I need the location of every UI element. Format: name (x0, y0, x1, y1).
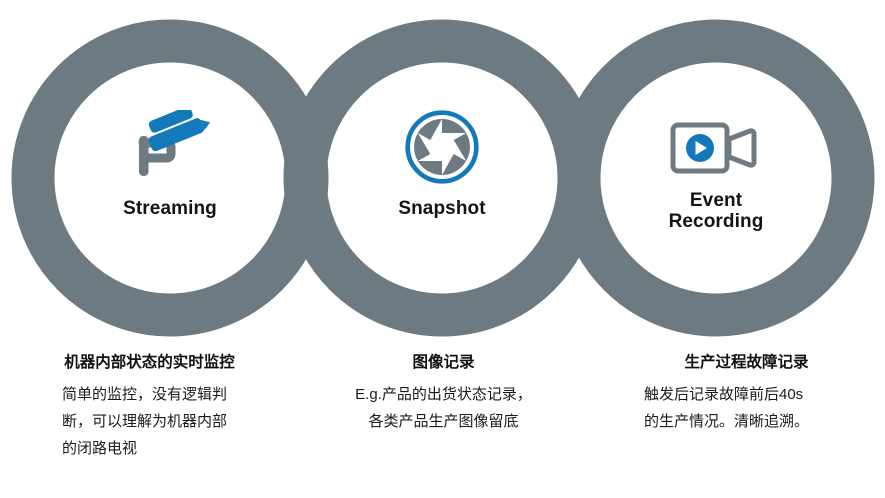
node-label-streaming: Streaming (70, 198, 270, 219)
description-line: 的生产情况。清晰追溯。 (644, 408, 849, 435)
node-label-event-recording-line2: Recording (616, 211, 816, 232)
description-line: 的闭路电视 (62, 435, 237, 462)
video-camcorder-glyph (670, 120, 762, 178)
node-snapshot: Snapshot (342, 100, 542, 219)
node-label-event-recording: Event Recording (616, 190, 816, 232)
description-heading-event-recording: 生产过程故障记录 (644, 352, 849, 374)
diagram-canvas: Streaming Snapshot (0, 0, 885, 498)
description-body-event-recording: 触发后记录故障前后40s 的生产情况。清晰追溯。 (644, 381, 849, 435)
description-heading-streaming: 机器内部状态的实时监控 (62, 352, 237, 374)
description-column-streaming: 机器内部状态的实时监控 简单的监控，没有逻辑判 断，可以理解为机器内部 的闭路电… (0, 352, 295, 462)
camera-aperture-glyph (403, 108, 481, 186)
description-line: 触发后记录故障前后40s (644, 381, 849, 408)
description-column-event-recording: 生产过程故障记录 触发后记录故障前后40s 的生产情况。清晰追溯。 (590, 352, 885, 462)
description-body-snapshot: E.g.产品的出货状态记录， 各类产品生产图像留底 (335, 381, 552, 435)
description-columns: 机器内部状态的实时监控 简单的监控，没有逻辑判 断，可以理解为机器内部 的闭路电… (0, 352, 885, 462)
cctv-camera-icon (70, 100, 270, 186)
cctv-camera-glyph (127, 110, 213, 186)
description-line: 各类产品生产图像留底 (335, 408, 552, 435)
node-event-recording: Event Recording (616, 92, 816, 232)
description-line: 断，可以理解为机器内部 (62, 408, 237, 435)
camera-aperture-icon (342, 100, 542, 186)
node-label-snapshot: Snapshot (342, 198, 542, 219)
node-label-event-recording-line1: Event (616, 190, 816, 211)
description-line: 简单的监控，没有逻辑判 (62, 381, 237, 408)
description-heading-snapshot: 图像记录 (335, 352, 552, 374)
description-line: E.g.产品的出货状态记录， (335, 381, 552, 408)
video-camcorder-icon (616, 92, 816, 178)
description-column-snapshot: 图像记录 E.g.产品的出货状态记录， 各类产品生产图像留底 (295, 352, 590, 462)
node-streaming: Streaming (70, 100, 270, 219)
description-body-streaming: 简单的监控，没有逻辑判 断，可以理解为机器内部 的闭路电视 (62, 381, 237, 462)
